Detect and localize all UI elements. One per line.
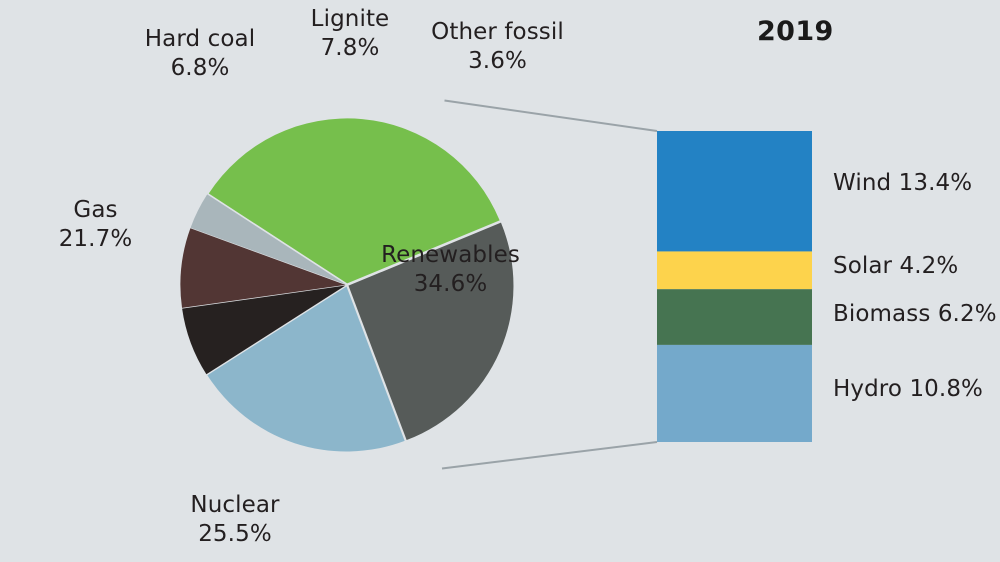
pie-label-gas: Gas 21.7% [38,196,153,254]
bar-label-wind: Wind 13.4% [833,169,972,198]
renewables-stacked-bar [657,131,812,442]
bar-label-biomass: Biomass 6.2% [833,300,997,329]
pie-label-other-fossil-name: Other fossil [415,18,580,47]
pie-label-other-fossil: Other fossil 3.6% [415,18,580,76]
pie-label-hard-coal: Hard coal 6.8% [120,25,280,83]
pie-label-lignite-value: 7.8% [280,34,420,63]
pie-label-hard-coal-name: Hard coal [120,25,280,54]
pie-label-nuclear-name: Nuclear [155,491,315,520]
pie-label-lignite: Lignite 7.8% [280,5,420,63]
pie-label-renewables: Renewables 34.6% [368,241,533,299]
pie-label-other-fossil-value: 3.6% [415,47,580,76]
leader-line-bottom [442,442,657,469]
pie-label-gas-name: Gas [38,196,153,225]
bar-label-hydro: Hydro 10.8% [833,375,983,404]
pie-label-gas-value: 21.7% [38,225,153,254]
pie-label-nuclear-value: 25.5% [155,520,315,549]
pie-label-renewables-value: 34.6% [368,270,533,299]
leader-line-top [445,101,658,132]
pie-label-nuclear: Nuclear 25.5% [155,491,315,549]
pie-label-hard-coal-value: 6.8% [120,54,280,83]
year-title: 2019 [757,16,834,47]
chart-canvas: Hard coal 6.8% Lignite 7.8% Other fossil… [0,0,1000,562]
bar-segment-solar[interactable] [657,251,812,289]
pie-label-renewables-name: Renewables [368,241,533,270]
bar-segment-biomass[interactable] [657,289,812,345]
bar-segment-hydro[interactable] [657,345,812,442]
pie-label-lignite-name: Lignite [280,5,420,34]
bar-segment-wind[interactable] [657,131,812,251]
bar-label-solar: Solar 4.2% [833,252,958,281]
